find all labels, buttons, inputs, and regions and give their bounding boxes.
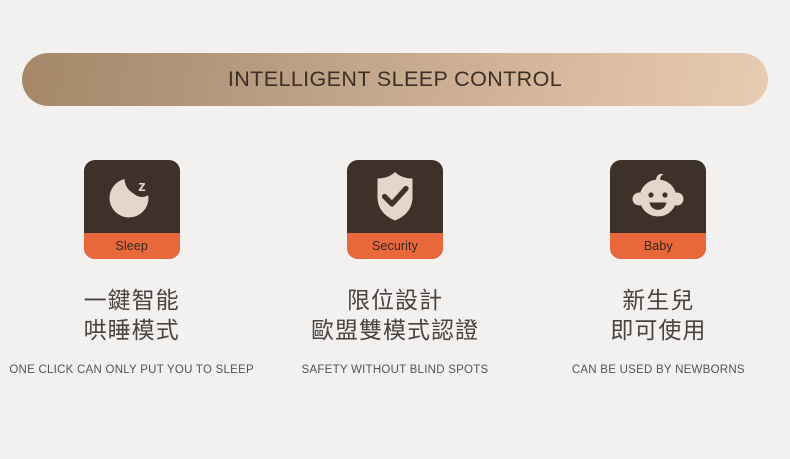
feature-heading-line-2: 哄睡模式 [84,316,180,346]
page-title: INTELLIGENT SLEEP CONTROL [228,67,562,92]
feature-column-sleep: z Sleep 一鍵智能 哄睡模式 ONE CLICK CAN ONLY PUT… [0,160,263,376]
feature-caption-security: SAFETY WITHOUT BLIND SPOTS [302,364,489,376]
feature-heading-line-2: 歐盟雙模式認證 [311,316,479,346]
feature-caption-baby: CAN BE USED BY NEWBORNS [572,364,745,376]
feature-caption-sleep: ONE CLICK CAN ONLY PUT YOU TO SLEEP [9,364,254,376]
feature-columns: z Sleep 一鍵智能 哄睡模式 ONE CLICK CAN ONLY PUT… [0,160,790,376]
feature-badge-security: Security [347,233,443,259]
feature-heading-line-1: 新生兒 [610,286,706,316]
shield-check-icon [347,160,443,233]
feature-badge-sleep: Sleep [84,233,180,259]
feature-heading-line-2: 即可使用 [610,316,706,346]
feature-card-sleep[interactable]: z Sleep [84,160,180,259]
feature-heading-line-1: 限位設計 [311,286,479,316]
feature-badge-baby: Baby [610,233,706,259]
feature-heading-sleep: 一鍵智能 哄睡模式 [84,286,180,346]
feature-column-security: Security 限位設計 歐盟雙模式認證 SAFETY WITHOUT BLI… [263,160,526,376]
baby-face-icon [610,160,706,233]
feature-heading-security: 限位設計 歐盟雙模式認證 [311,286,479,346]
feature-column-baby: Baby 新生兒 即可使用 CAN BE USED BY NEWBORNS [527,160,790,376]
feature-card-baby[interactable]: Baby [610,160,706,259]
moon-z-icon: z [84,160,180,233]
feature-card-security[interactable]: Security [347,160,443,259]
feature-heading-line-1: 一鍵智能 [84,286,180,316]
banner: INTELLIGENT SLEEP CONTROL [22,53,768,106]
feature-heading-baby: 新生兒 即可使用 [610,286,706,346]
svg-text:z: z [138,178,146,195]
